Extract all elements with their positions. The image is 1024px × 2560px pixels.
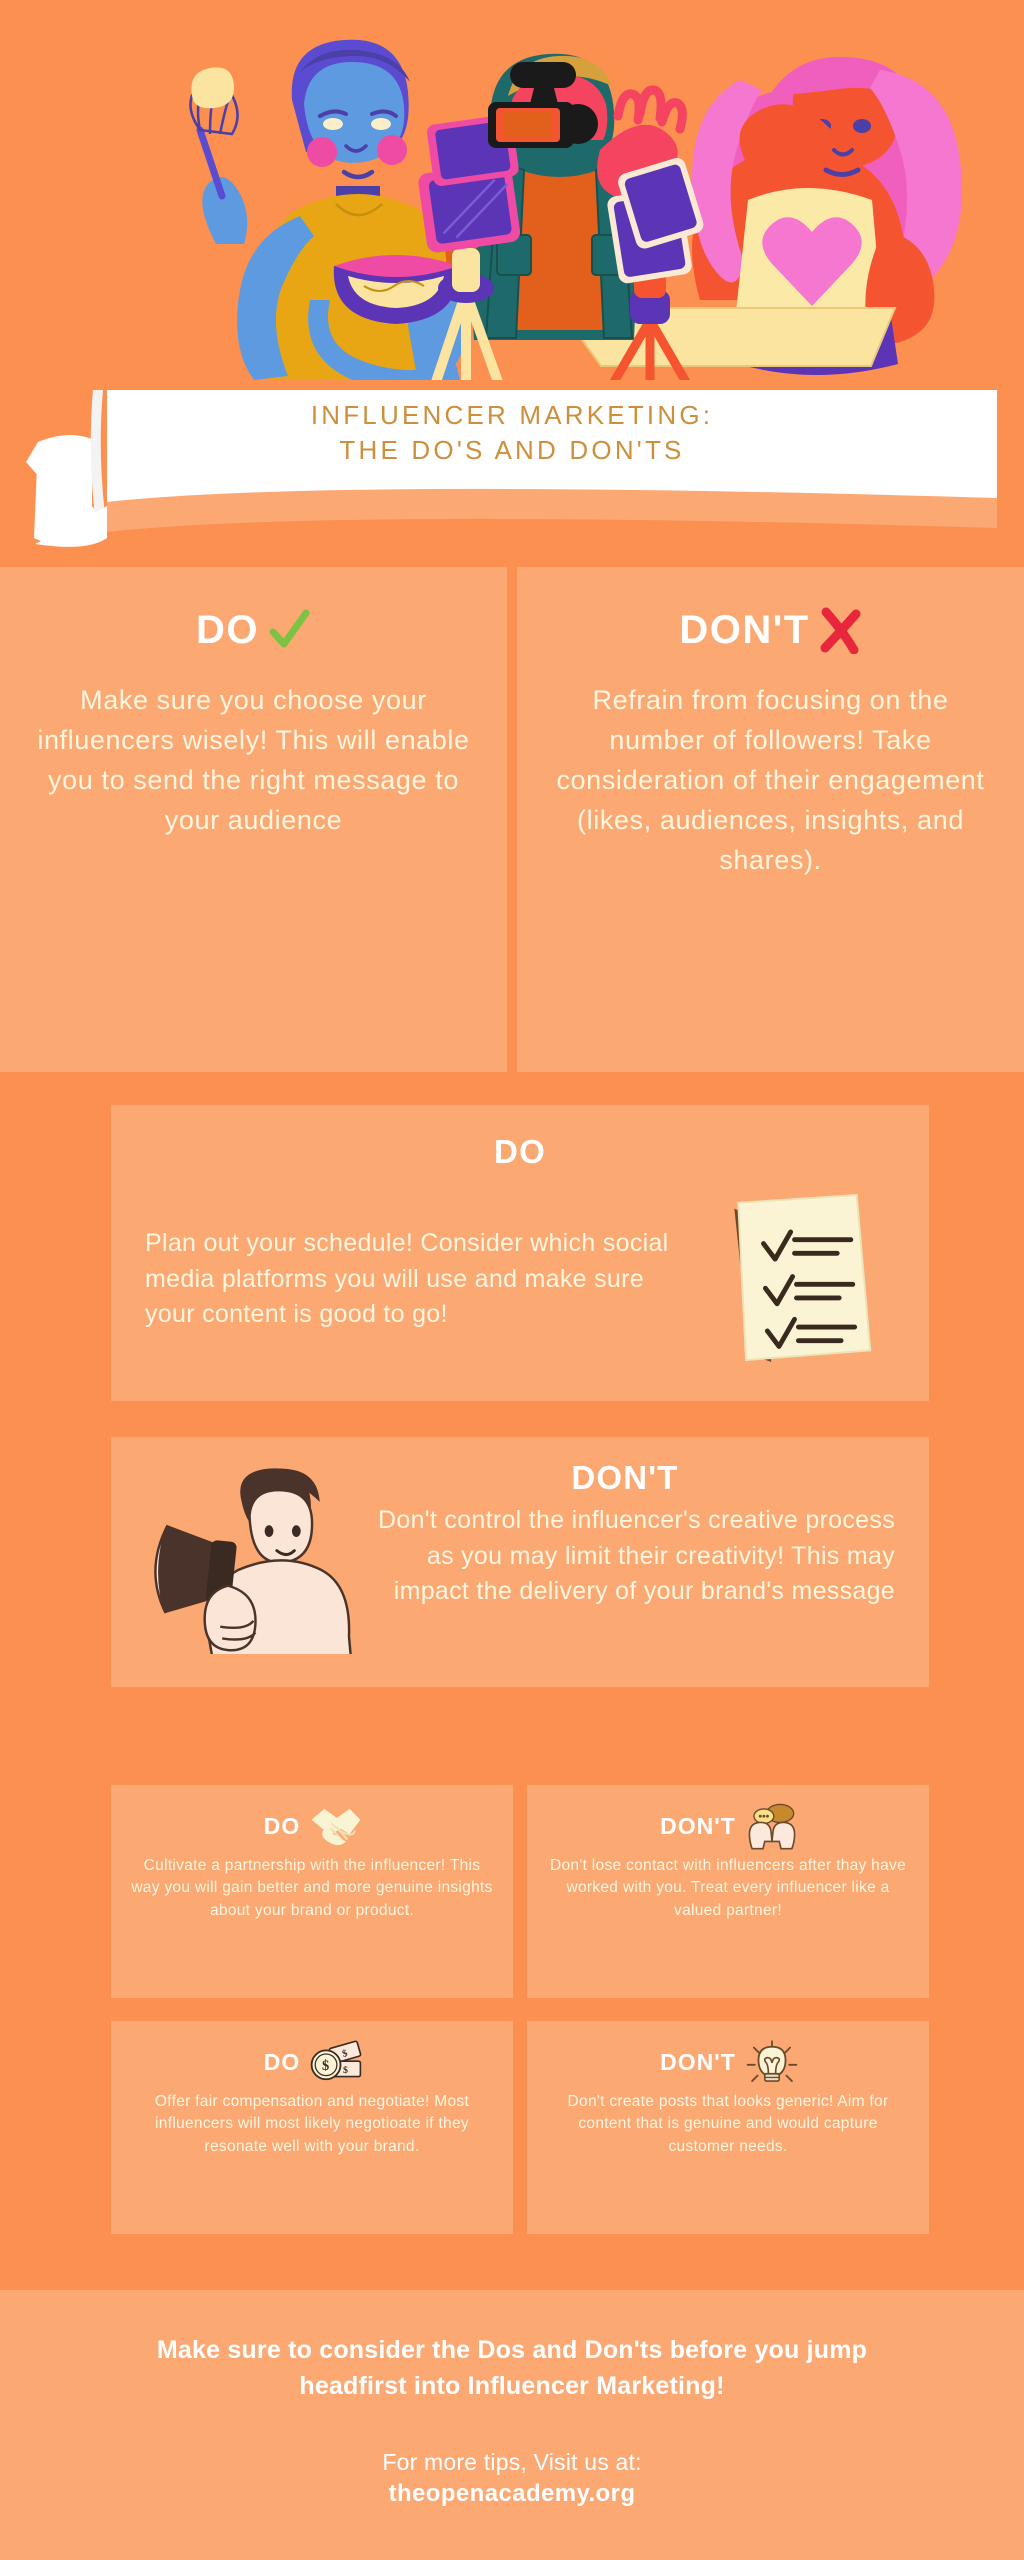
grid-card-dont-lose-contact: DON'T Don't lose contact with influencer… <box>527 1785 929 1998</box>
handshake-icon <box>308 1803 360 1849</box>
two-heads-talking-icon <box>744 1803 796 1849</box>
footer-headline: Make sure to consider the Dos and Don'ts… <box>100 2332 924 2405</box>
card-body-text: Plan out your schedule! Consider which s… <box>145 1226 695 1333</box>
card-body-text: Cultivate a partnership with the influen… <box>131 1855 493 1922</box>
card-dont-control-creative: DON'T Don't control the influencer's cre… <box>111 1437 929 1687</box>
card-do-choose-wisely: DO Make sure you choose your influencers… <box>0 567 507 1072</box>
infographic-page: INFLUENCER MARKETING: THE DO'S AND DON'T… <box>0 0 1024 2560</box>
do-heading: DO <box>196 608 259 653</box>
card-body-text: Refrain from focusing on the number of f… <box>547 681 994 881</box>
card-body-text: Offer fair compensation and negotiate! M… <box>131 2091 493 2158</box>
dont-heading: DON'T <box>660 2049 736 2076</box>
card-heading-row: DO $ $ $ <box>131 2037 493 2087</box>
grid-card-do-compensation: DO $ $ $ Offer fair compensat <box>111 2021 513 2234</box>
card-heading-row: DO <box>30 601 477 659</box>
card-heading-row: DON'T <box>547 1801 909 1851</box>
do-heading: DO <box>264 1813 301 1840</box>
card-heading-row: DON'T <box>547 2037 909 2087</box>
card-dont-followers: DON'T Refrain from focusing on the numbe… <box>517 567 1024 1072</box>
red-x-icon <box>818 606 862 654</box>
dont-heading: DON'T <box>679 608 809 653</box>
grid-card-do-partnership: DO Cultivate a partnership with the infl… <box>111 1785 513 1998</box>
svg-text:$: $ <box>343 2065 349 2076</box>
footer-website-link[interactable]: theopenacademy.org <box>100 2480 924 2508</box>
card-heading-row: DO <box>131 1801 493 1851</box>
card-body-text: Don't control the influencer's creative … <box>355 1503 895 1610</box>
do-heading: DO <box>264 2049 301 2076</box>
do-heading: DO <box>145 1133 895 1171</box>
card-body-text: Make sure you choose your influencers wi… <box>30 681 477 841</box>
footer-cta: Make sure to consider the Dos and Don'ts… <box>0 2290 1024 2560</box>
title-line-1: INFLUENCER MARKETING: <box>0 398 1024 433</box>
card-do-plan-schedule: DO Plan out your schedule! Consider whic… <box>111 1105 929 1401</box>
money-cash-icon: $ $ $ <box>308 2039 360 2085</box>
dont-heading: DON'T <box>660 1813 736 1840</box>
lightbulb-icon <box>744 2039 796 2085</box>
do-dont-top-row: DO Make sure you choose your influencers… <box>0 567 1024 1072</box>
green-check-icon <box>267 608 311 652</box>
title-line-2: THE DO'S AND DON'TS <box>0 433 1024 468</box>
card-body-text: Don't lose contact with influencers afte… <box>547 1855 909 1922</box>
hero-illustration <box>0 0 1024 380</box>
page-title: INFLUENCER MARKETING: THE DO'S AND DON'T… <box>0 398 1024 468</box>
card-heading-row: DON'T <box>547 601 994 659</box>
svg-text:$: $ <box>322 2058 330 2074</box>
footer-subtext: For more tips, Visit us at: <box>100 2449 924 2476</box>
dont-heading: DON'T <box>355 1459 895 1497</box>
grid-card-dont-generic-posts: DON'T Don't create posts that looks gene… <box>527 2021 929 2234</box>
megaphone-person-icon <box>145 1459 355 1654</box>
checklist-note-icon <box>695 1187 895 1372</box>
card-body-text: Don't create posts that looks generic! A… <box>547 2091 909 2158</box>
